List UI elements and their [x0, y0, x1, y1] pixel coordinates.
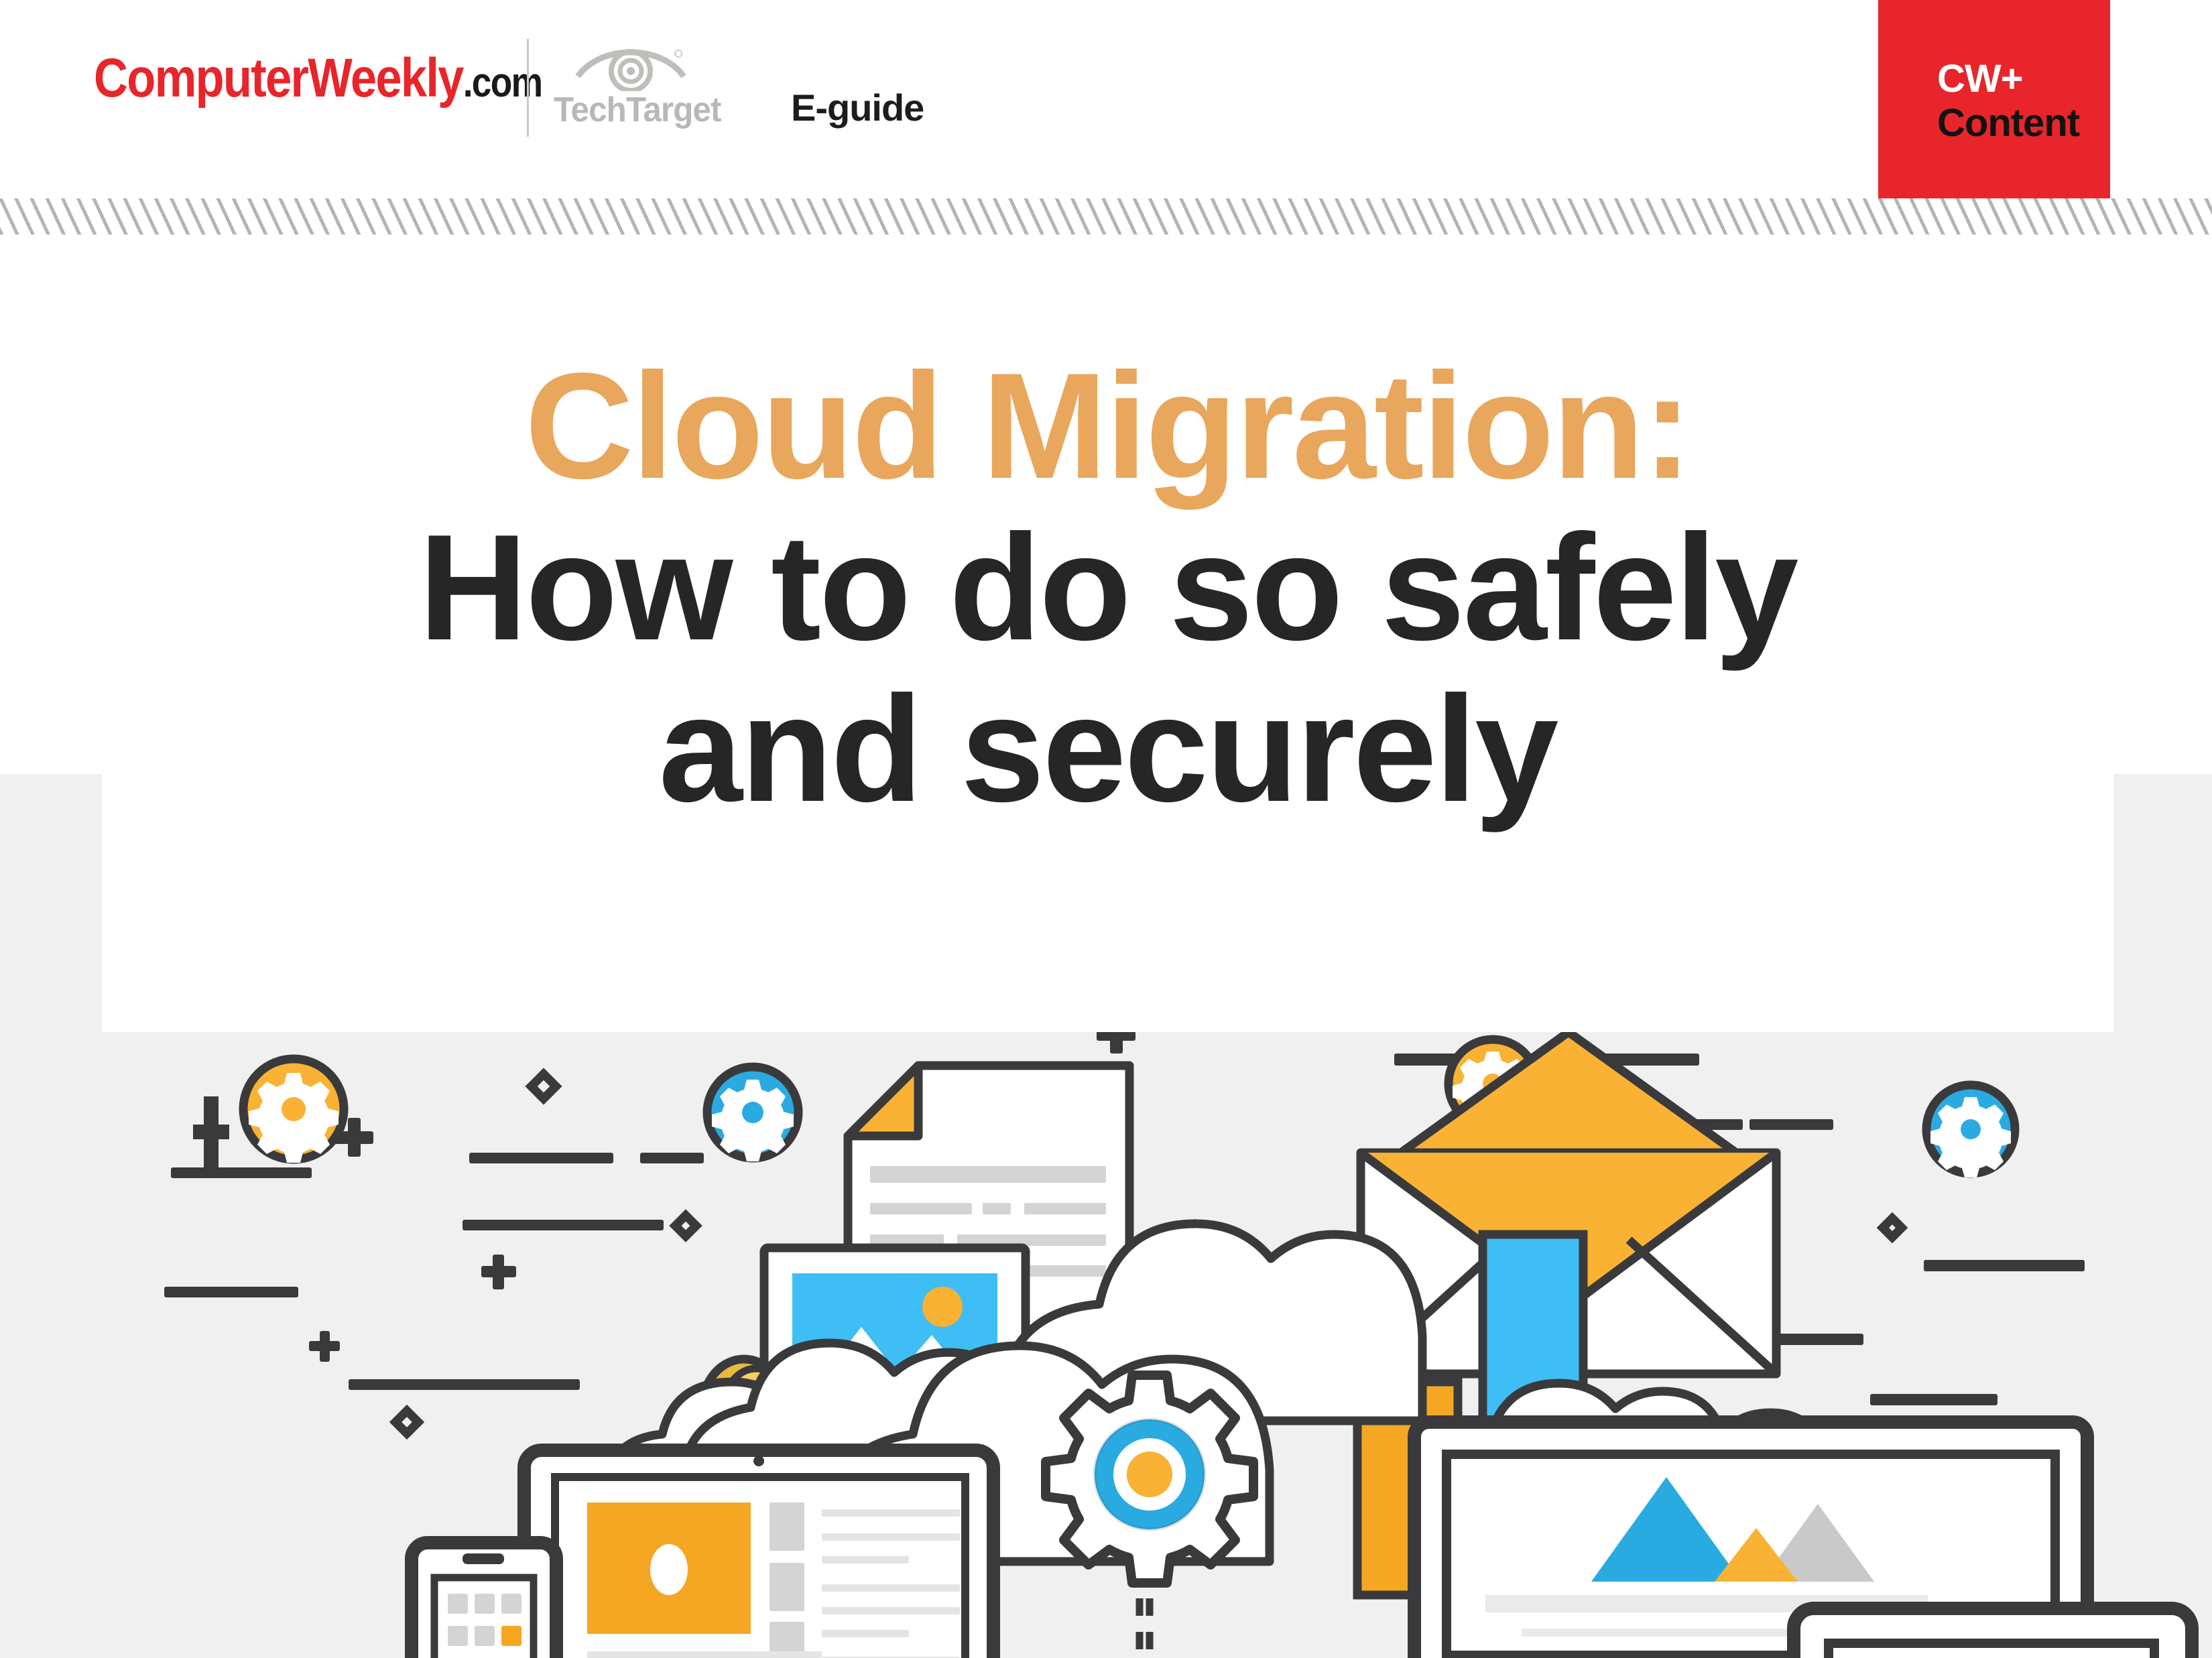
cloud-illustration: .ol{stroke:#3A3A3C;stroke-width:13;fill:…: [0, 992, 2212, 1658]
badge-line-2: Content: [1937, 101, 2079, 145]
title-panel: Cloud Migration: How to do so safely and…: [102, 235, 2113, 1032]
cover-page: ComputerWeekly.com TechTarget E-guide CW…: [0, 0, 2212, 1658]
cw-plus-content-badge[interactable]: CW+ Content: [1878, 0, 2110, 198]
title-line-1: Cloud Migration:: [102, 235, 2113, 507]
laptop-device: [524, 1450, 1005, 1658]
logo-domain-text: .com: [463, 60, 542, 106]
doc-type-label: E-guide: [791, 86, 924, 129]
page-title: Cloud Migration: How to do so safely and…: [102, 235, 2113, 829]
logo-brand-text: ComputerWeekly: [94, 48, 463, 109]
phone-device: [412, 1543, 556, 1658]
computerweekly-logo[interactable]: ComputerWeekly.com: [94, 51, 542, 106]
techtarget-wordmark: TechTarget: [554, 90, 721, 130]
logo-divider: [527, 39, 529, 137]
gear-badge-blue-right: [1926, 1085, 2015, 1177]
techtarget-logo[interactable]: TechTarget: [554, 40, 708, 141]
techtarget-eye-icon: [574, 40, 688, 91]
title-line-2: How to do so safely: [102, 507, 2113, 668]
center-gear-target: [1046, 1375, 1253, 1583]
gear-badge-orange-left: [243, 1059, 344, 1163]
hatch-divider-band: [0, 198, 2212, 235]
gear-badge-blue-left: [707, 1067, 798, 1161]
title-line-3: and securely: [102, 668, 2113, 830]
badge-line-1: CW+: [1937, 56, 2023, 101]
tablet-device-right: [1794, 1608, 2193, 1658]
